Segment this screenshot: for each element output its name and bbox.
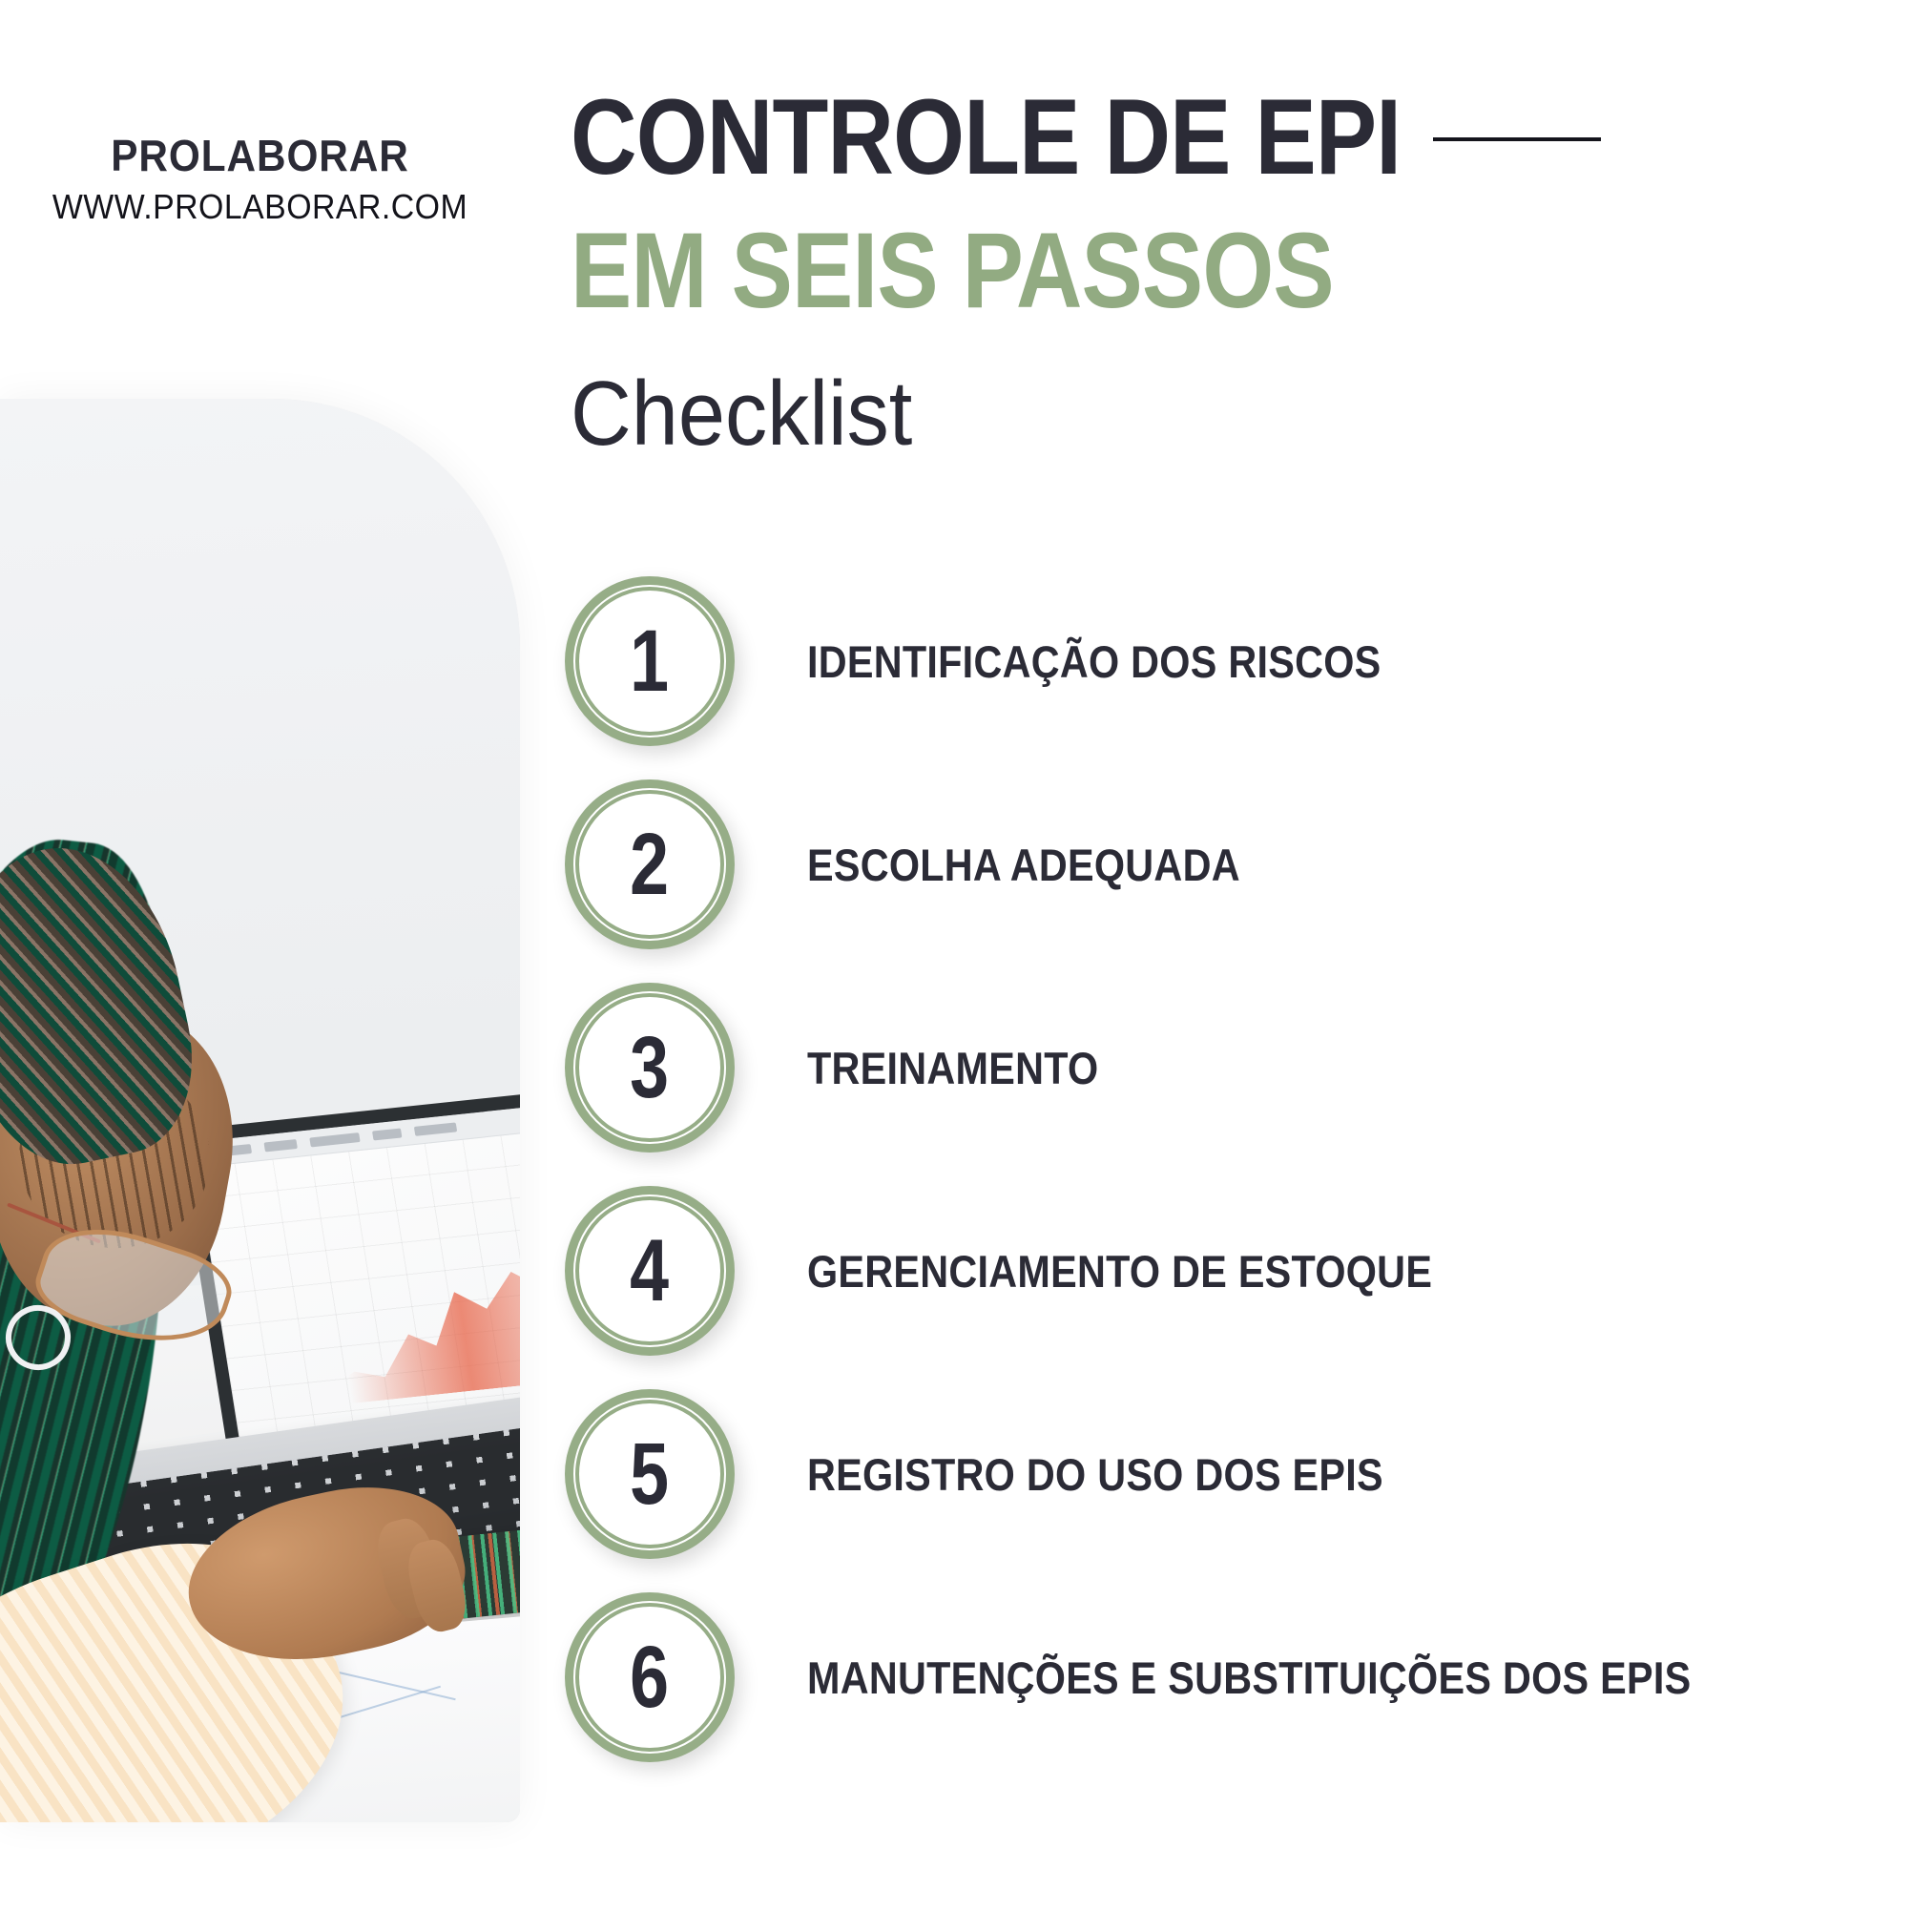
brand-url[interactable]: WWW.PROLABORAR.COM bbox=[15, 188, 504, 226]
list-item[interactable]: 6 MANUTENÇÕES E SUBSTITUIÇÕES DOS EPIS bbox=[565, 1592, 1881, 1762]
title-block: CONTROLE DE EPI EM SEIS PASSOS Checklist bbox=[571, 84, 1887, 460]
list-item[interactable]: 3 TREINAMENTO bbox=[565, 983, 1881, 1153]
brand-name: PROLABORAR bbox=[21, 132, 499, 180]
step-number: 2 bbox=[631, 821, 670, 908]
brand-block: PROLABORAR WWW.PROLABORAR.COM bbox=[0, 132, 520, 225]
step-badge-2[interactable]: 2 bbox=[565, 779, 735, 949]
photo-panel bbox=[0, 399, 520, 1822]
step-badge-4[interactable]: 4 bbox=[565, 1186, 735, 1356]
list-item[interactable]: 4 GERENCIAMENTO DE ESTOQUE bbox=[565, 1186, 1881, 1356]
list-item[interactable]: 2 ESCOLHA ADEQUADA bbox=[565, 779, 1881, 949]
page-title: CONTROLE DE EPI bbox=[571, 84, 1401, 191]
step-badge-1[interactable]: 1 bbox=[565, 576, 735, 746]
step-label-5: REGISTRO DO USO DOS EPIS bbox=[807, 1448, 1383, 1501]
page-kicker: Checklist bbox=[571, 368, 1782, 460]
step-label-1: IDENTIFICAÇÃO DOS RISCOS bbox=[807, 635, 1381, 688]
step-badge-5[interactable]: 5 bbox=[565, 1389, 735, 1559]
list-item[interactable]: 5 REGISTRO DO USO DOS EPIS bbox=[565, 1389, 1881, 1559]
step-badge-3[interactable]: 3 bbox=[565, 983, 735, 1153]
infographic-canvas: PROLABORAR WWW.PROLABORAR.COM CONTROLE D… bbox=[0, 0, 1932, 1932]
step-number: 3 bbox=[631, 1024, 670, 1111]
step-number: 5 bbox=[631, 1430, 670, 1518]
step-label-2: ESCOLHA ADEQUADA bbox=[807, 839, 1240, 891]
list-item[interactable]: 1 IDENTIFICAÇÃO DOS RISCOS bbox=[565, 576, 1881, 746]
step-badge-6[interactable]: 6 bbox=[565, 1592, 735, 1762]
step-label-6: MANUTENÇÕES E SUBSTITUIÇÕES DOS EPIS bbox=[807, 1652, 1691, 1704]
title-main-row: CONTROLE DE EPI bbox=[571, 84, 1887, 191]
step-label-4: GERENCIAMENTO DE ESTOQUE bbox=[807, 1245, 1432, 1298]
step-number: 6 bbox=[631, 1633, 670, 1721]
step-number: 1 bbox=[631, 617, 670, 705]
title-rule-divider bbox=[1433, 137, 1601, 141]
step-number: 4 bbox=[631, 1227, 670, 1315]
steps-list: 1 IDENTIFICAÇÃO DOS RISCOS 2 ESCOLHA ADE… bbox=[565, 576, 1881, 1796]
step-label-3: TREINAMENTO bbox=[807, 1042, 1098, 1094]
page-subtitle: EM SEIS PASSOS bbox=[571, 218, 1703, 324]
